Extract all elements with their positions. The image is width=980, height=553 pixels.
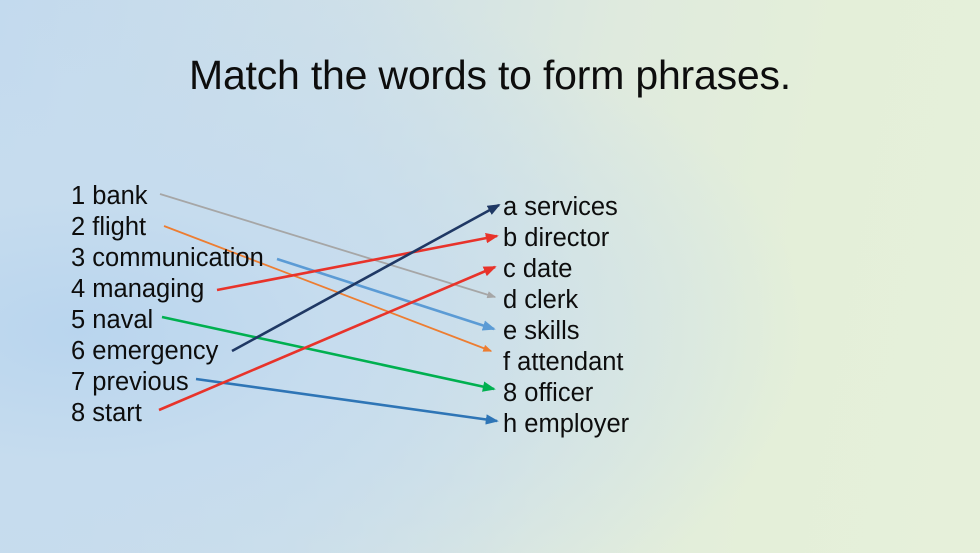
left-item-8[interactable]: 8 start <box>71 398 264 429</box>
left-item-7[interactable]: 7 previous <box>71 367 264 398</box>
connector-emergency-to-services[interactable] <box>232 205 499 351</box>
right-item-a[interactable]: a services <box>503 192 629 223</box>
right-item-e[interactable]: e skills <box>503 316 629 347</box>
left-item-3[interactable]: 3 communication <box>71 243 264 274</box>
right-item-d[interactable]: d clerk <box>503 285 629 316</box>
right-item-b[interactable]: b director <box>503 223 629 254</box>
left-item-2[interactable]: 2 flight <box>71 212 264 243</box>
left-item-4[interactable]: 4 managing <box>71 274 264 305</box>
right-item-c[interactable]: c date <box>503 254 629 285</box>
left-item-5[interactable]: 5 naval <box>71 305 264 336</box>
right-word-list: a services b director c date d clerk e s… <box>503 192 629 440</box>
left-item-6[interactable]: 6 emergency <box>71 336 264 367</box>
slide-canvas: Match the words to form phrases. 1 bank … <box>0 0 980 553</box>
right-item-f[interactable]: f attendant <box>503 347 629 378</box>
connector-communication-to-skills[interactable] <box>277 259 494 329</box>
right-item-g[interactable]: 8 officer <box>503 378 629 409</box>
left-word-list: 1 bank 2 flight 3 communication 4 managi… <box>71 181 264 429</box>
page-title: Match the words to form phrases. <box>0 52 980 99</box>
right-item-h[interactable]: h employer <box>503 409 629 440</box>
left-item-1[interactable]: 1 bank <box>71 181 264 212</box>
